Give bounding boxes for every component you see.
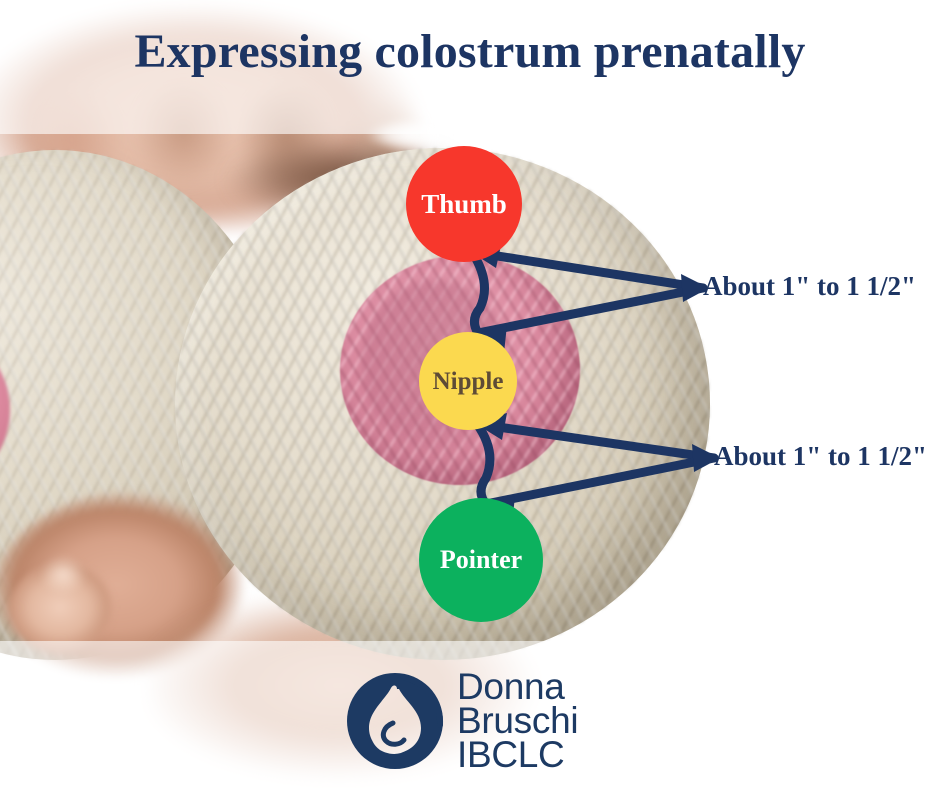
logo-line-1: Donna (457, 670, 578, 704)
label-bubble-thumb[interactable]: Thumb (406, 146, 522, 262)
brand-logo[interactable]: Donna Bruschi IBCLC (345, 660, 615, 782)
label-bubble-pointer[interactable]: Pointer (419, 498, 543, 622)
logo-line-3: IBCLC (457, 738, 578, 772)
logo-line-2: Bruschi (457, 704, 578, 738)
logo-wordmark: Donna Bruschi IBCLC (457, 670, 578, 772)
label-bubble-nipple[interactable]: Nipple (419, 332, 517, 430)
hand-thumb-highlight (28, 545, 98, 605)
donna-bruschi-droplet-circle-icon (345, 671, 445, 771)
infographic-canvas: Expressing colostrum prenatally Thumb (0, 0, 940, 788)
measurement-label-top: About 1" to 1 1/2" (703, 271, 916, 302)
page-title: Expressing colostrum prenatally (0, 26, 940, 78)
measurement-label-bottom: About 1" to 1 1/2" (714, 441, 927, 472)
